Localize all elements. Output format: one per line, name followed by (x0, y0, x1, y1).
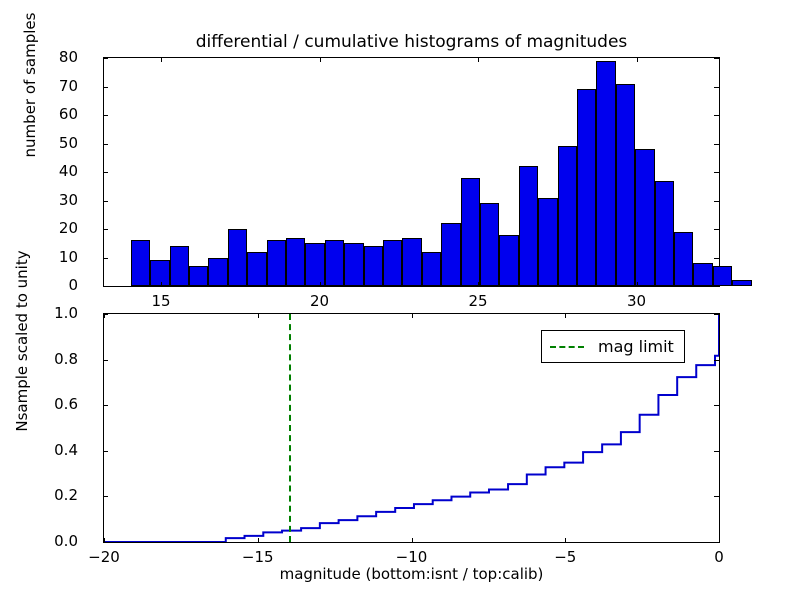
histogram-bar (189, 266, 208, 286)
figure-canvas: differential / cumulative histograms of … (0, 0, 800, 600)
top-x-tick-mark-upper (637, 57, 638, 62)
top-x-tick-mark-upper (320, 57, 321, 62)
bottom-x-tick-label: −20 (74, 548, 134, 566)
top-y-tick-mark-right (714, 172, 719, 173)
top-x-tick-mark-upper (161, 57, 162, 62)
histogram-bar (344, 243, 363, 286)
bottom-y-tick-label: 0.6 (18, 395, 78, 413)
histogram-bar (150, 260, 169, 286)
top-y-tick-mark-right (714, 58, 719, 59)
histogram-bar (170, 246, 189, 286)
top-y-tick-label: 20 (18, 219, 78, 237)
bottom-x-tick-mark (258, 538, 259, 543)
top-y-tick-mark (103, 258, 108, 259)
top-y-tick-mark (103, 172, 108, 173)
top-x-tick-mark (637, 282, 638, 287)
histogram-bar (422, 252, 441, 286)
top-y-tick-mark (103, 87, 108, 88)
histogram-bar (499, 235, 519, 286)
histogram-bar (713, 266, 732, 286)
top-y-tick-mark (103, 201, 108, 202)
histogram-bar (635, 149, 654, 286)
histogram-bar (286, 238, 305, 286)
histogram-bar (383, 240, 402, 286)
histogram-bar (364, 246, 383, 286)
legend: mag limit (541, 330, 685, 363)
top-y-tick-label: 30 (18, 191, 78, 209)
top-y-tick-label: 50 (18, 134, 78, 152)
histogram-bar (131, 240, 150, 286)
top-y-tick-mark (103, 58, 108, 59)
top-x-tick-label: 15 (136, 292, 186, 310)
bottom-axis-xlabel: magnitude (bottom:isnt / top:calib) (103, 565, 720, 583)
bottom-x-tick-mark-upper (412, 313, 413, 318)
top-y-tick-label: 40 (18, 162, 78, 180)
bottom-x-tick-mark-upper (104, 313, 105, 318)
top-y-tick-mark-right (714, 286, 719, 287)
bottom-y-tick-label: 0.4 (18, 441, 78, 459)
top-x-tick-mark-upper (478, 57, 479, 62)
bottom-x-tick-mark (412, 538, 413, 543)
histogram-bar (732, 280, 751, 286)
bottom-x-tick-label: −10 (382, 548, 442, 566)
histogram-bar (538, 198, 557, 286)
bottom-x-tick-mark-upper (719, 313, 720, 318)
bottom-x-tick-mark (104, 538, 105, 543)
bottom-y-tick-mark-right (714, 451, 719, 452)
bottom-y-tick-mark (103, 496, 108, 497)
top-y-tick-mark (103, 229, 108, 230)
top-y-tick-mark-right (714, 144, 719, 145)
bottom-y-tick-mark (103, 405, 108, 406)
bottom-y-tick-mark-right (714, 360, 719, 361)
histogram-bar (655, 181, 674, 286)
histogram-bar (558, 146, 577, 286)
top-y-tick-mark-right (714, 258, 719, 259)
histogram-bar (577, 89, 596, 286)
bottom-y-tick-label: 1.0 (18, 304, 78, 322)
bottom-y-tick-mark (103, 360, 108, 361)
top-y-tick-mark-right (714, 201, 719, 202)
bottom-x-tick-label: −15 (228, 548, 288, 566)
histogram-bar (480, 203, 499, 286)
top-y-tick-label: 80 (18, 48, 78, 66)
top-y-tick-mark-right (714, 229, 719, 230)
bottom-y-tick-mark-right (714, 405, 719, 406)
bottom-x-tick-label: −5 (535, 548, 595, 566)
bottom-x-tick-mark (565, 538, 566, 543)
top-x-tick-label: 30 (612, 292, 662, 310)
mag-limit-vline (289, 314, 291, 542)
top-x-tick-mark (161, 282, 162, 287)
bottom-y-tick-mark (103, 451, 108, 452)
histogram-bar (596, 61, 616, 286)
top-x-tick-label: 25 (453, 292, 503, 310)
histogram-bar (247, 252, 266, 286)
bottom-x-tick-mark-upper (258, 313, 259, 318)
chart-title: differential / cumulative histograms of … (103, 32, 720, 52)
bottom-y-tick-label: 0.2 (18, 486, 78, 504)
histogram-bar (674, 232, 693, 286)
top-y-tick-mark (103, 115, 108, 116)
top-x-tick-mark (478, 282, 479, 287)
top-x-tick-label: 20 (295, 292, 345, 310)
bottom-x-tick-mark (719, 538, 720, 543)
top-y-tick-mark-right (714, 87, 719, 88)
histogram-bar (402, 238, 422, 286)
bottom-x-tick-mark-upper (565, 313, 566, 318)
histogram-bars (104, 58, 719, 286)
histogram-bar (325, 240, 344, 286)
histogram-bar (208, 258, 228, 287)
bottom-y-tick-label: 0.0 (18, 532, 78, 550)
histogram-bar (441, 223, 460, 286)
top-x-tick-mark (320, 282, 321, 287)
top-y-tick-mark-right (714, 115, 719, 116)
histogram-bar (519, 166, 538, 286)
mag-limit-legend-swatch-icon (550, 346, 584, 348)
histogram-bar (228, 229, 247, 286)
histogram-plot-area (103, 57, 720, 287)
top-y-tick-label: 70 (18, 77, 78, 95)
top-y-tick-mark (103, 144, 108, 145)
top-y-tick-label: 60 (18, 105, 78, 123)
histogram-bar (616, 84, 635, 286)
legend-item-label: mag limit (598, 337, 674, 356)
bottom-y-tick-mark-right (714, 496, 719, 497)
bottom-x-tick-label: 0 (689, 548, 749, 566)
histogram-bar (267, 240, 286, 286)
top-y-tick-mark (103, 286, 108, 287)
histogram-bar (305, 243, 325, 286)
histogram-bar (461, 178, 480, 286)
bottom-y-tick-label: 0.8 (18, 350, 78, 368)
histogram-bar (693, 263, 713, 286)
